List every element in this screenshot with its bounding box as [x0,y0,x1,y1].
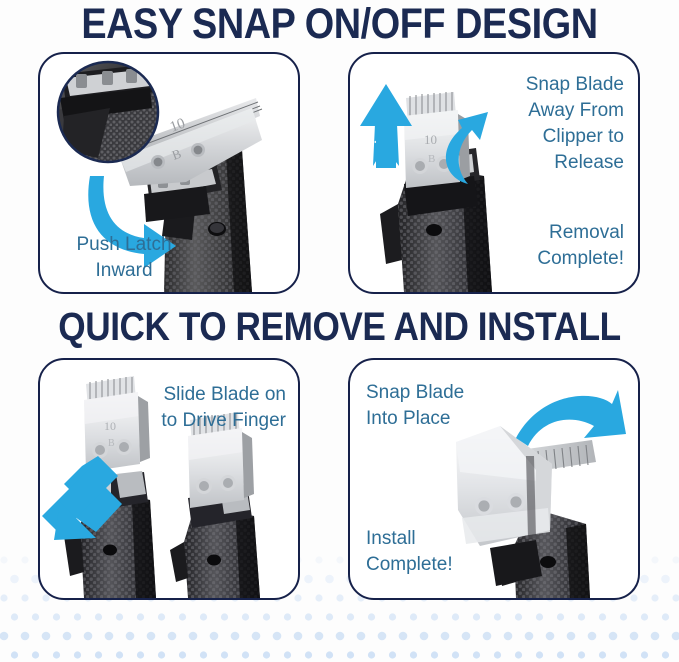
panel-snap-blade-away: 10 B Snap Blade Away From Clipper to Rel… [348,52,640,294]
caption-snap-blade-away: Snap Blade Away From Clipper to Release [478,72,624,176]
caption-snap-into-place: Snap Blade Into Place [366,380,526,432]
caption-slide-blade: Slide Blade on to Drive Finger [138,382,286,434]
page-title-primary: EASY SNAP ON/OFF DESIGN [41,0,639,48]
panel-snap-into-place: Snap Blade Into Place Install Complete! [348,358,640,600]
caption-removal-complete: Removal Complete! [478,220,624,272]
panel-push-latch: 10 B [38,52,300,294]
page-title-secondary: QUICK TO REMOVE AND INSTALL [41,305,639,350]
caption-install-complete: Install Complete! [366,526,526,578]
panel-slide-blade: 10 B Slide Blade on to Drive Finger [38,358,300,600]
caption-push-latch: Push Latch Inward [54,232,194,284]
